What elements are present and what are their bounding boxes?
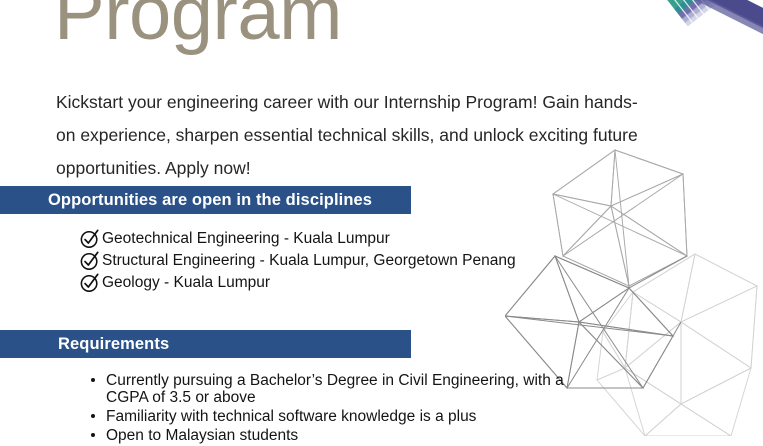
opportunities-banner: Opportunities are open in the discipline… bbox=[0, 186, 411, 214]
intro-paragraph: Kickstart your engineering career with o… bbox=[56, 86, 656, 185]
decoration-layer bbox=[0, 0, 763, 430]
requirement-text: Currently pursuing a Bachelor’s Degree i… bbox=[106, 372, 564, 406]
check-circle-icon bbox=[79, 250, 101, 272]
disciplines-list: Geotechnical Engineering - Kuala Lumpur … bbox=[79, 228, 516, 294]
list-item: Geology - Kuala Lumpur bbox=[79, 272, 516, 294]
requirements-banner-label: Requirements bbox=[58, 335, 169, 354]
page-title: Program bbox=[54, 0, 342, 52]
discipline-label: Structural Engineering - Kuala Lumpur, G… bbox=[102, 250, 516, 272]
discipline-label: Geotechnical Engineering - Kuala Lumpur bbox=[102, 228, 390, 250]
requirements-banner: Requirements bbox=[0, 330, 411, 358]
discipline-label: Geology - Kuala Lumpur bbox=[102, 272, 270, 294]
bullet-dot-icon bbox=[91, 414, 95, 418]
requirement-text: Familiarity with technical software know… bbox=[106, 408, 476, 425]
diagonal-ribbon-graphic bbox=[639, 0, 763, 76]
list-item: Geotechnical Engineering - Kuala Lumpur bbox=[79, 228, 516, 250]
requirements-list: Currently pursuing a Bachelor’s Degree i… bbox=[88, 372, 608, 446]
bullet-dot-icon bbox=[91, 433, 95, 437]
list-item: Structural Engineering - Kuala Lumpur, G… bbox=[79, 250, 516, 272]
list-item: Familiarity with technical software know… bbox=[88, 408, 608, 425]
opportunities-banner-label: Opportunities are open in the discipline… bbox=[48, 191, 372, 210]
check-circle-icon bbox=[79, 272, 101, 294]
bullet-dot-icon bbox=[91, 378, 95, 382]
list-item: Currently pursuing a Bachelor’s Degree i… bbox=[88, 372, 608, 406]
check-circle-icon bbox=[79, 228, 101, 250]
